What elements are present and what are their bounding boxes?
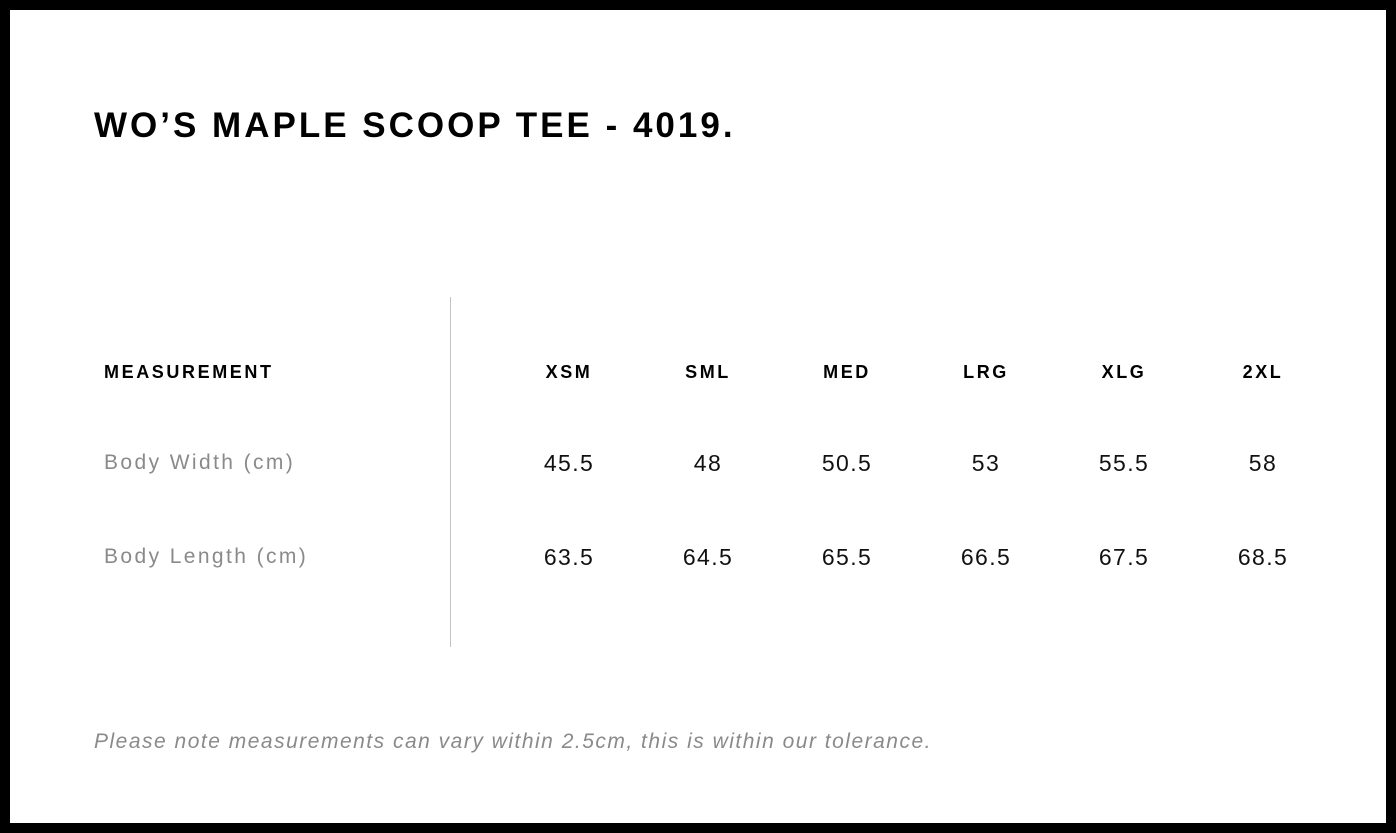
page-title: WO’S MAPLE SCOOP TEE - 4019. — [94, 108, 736, 143]
column-header-lrg: LRG — [921, 357, 1051, 387]
table-row: Body Length (cm) 63.5 64.5 65.5 66.5 67.… — [94, 542, 1294, 572]
cell-body-width-sml: 48 — [643, 448, 773, 478]
cell-body-length-sml: 64.5 — [643, 542, 773, 572]
size-chart-frame: WO’S MAPLE SCOOP TEE - 4019. MEASUREMENT… — [0, 0, 1396, 833]
row-label-body-length: Body Length (cm) — [104, 542, 308, 572]
column-header-measurement: MEASUREMENT — [104, 357, 274, 387]
size-chart-sheet: WO’S MAPLE SCOOP TEE - 4019. MEASUREMENT… — [10, 10, 1386, 823]
column-header-sml: SML — [643, 357, 773, 387]
table-row: Body Width (cm) 45.5 48 50.5 53 55.5 58 — [94, 448, 1294, 478]
cell-body-width-lrg: 53 — [921, 448, 1051, 478]
cell-body-length-lrg: 66.5 — [921, 542, 1051, 572]
column-header-xlg: XLG — [1059, 357, 1189, 387]
column-header-2xl: 2XL — [1198, 357, 1328, 387]
row-label-body-width: Body Width (cm) — [104, 448, 295, 478]
cell-body-width-xlg: 55.5 — [1059, 448, 1189, 478]
cell-body-length-med: 65.5 — [782, 542, 912, 572]
cell-body-width-xsm: 45.5 — [504, 448, 634, 478]
column-header-xsm: XSM — [504, 357, 634, 387]
cell-body-width-med: 50.5 — [782, 448, 912, 478]
tolerance-note: Please note measurements can vary within… — [94, 727, 932, 756]
column-header-med: MED — [782, 357, 912, 387]
size-chart-table: MEASUREMENT XSM SML MED LRG XLG 2XL Body… — [94, 287, 1294, 657]
table-header-row: MEASUREMENT XSM SML MED LRG XLG 2XL — [94, 357, 1294, 387]
cell-body-length-xsm: 63.5 — [504, 542, 634, 572]
cell-body-width-2xl: 58 — [1198, 448, 1328, 478]
cell-body-length-2xl: 68.5 — [1198, 542, 1328, 572]
cell-body-length-xlg: 67.5 — [1059, 542, 1189, 572]
